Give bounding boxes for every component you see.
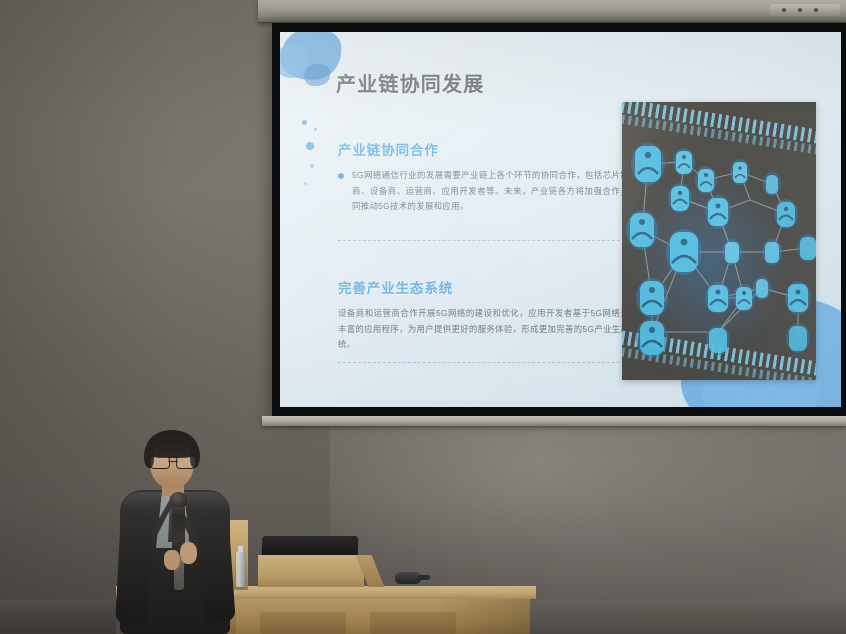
microphone-on-table	[395, 572, 421, 584]
section-1-body-text: 5G网络通信行业的发展需要产业链上各个环节的协同合作，包括芯片制造商、设备商、运…	[352, 170, 638, 211]
decor-dot-icon	[314, 128, 317, 131]
laptop-screen	[262, 536, 359, 556]
section-divider	[338, 240, 630, 241]
slide-title: 产业链协同发展	[336, 68, 484, 97]
slide-section-2: 完善产业生态系统 设备商和运营商合作开展5G网络的建设和优化，应用开发者基于5G…	[338, 277, 638, 353]
floor-left	[0, 600, 116, 634]
decor-dot-icon	[306, 142, 314, 150]
roller-screw-icon	[798, 8, 802, 12]
roller-screw-icon	[814, 8, 818, 12]
roller-endcap	[770, 4, 840, 16]
network-nodes-svg	[622, 102, 816, 380]
presenter-hand	[180, 542, 197, 564]
slide-section-1: 产业链协同合作 5G网络通信行业的发展需要产业链上各个环节的协同合作，包括芯片制…	[338, 139, 638, 215]
presenter-hand	[164, 550, 180, 570]
section-2-heading: 完善产业生态系统	[338, 277, 638, 297]
section-2-body-text: 设备商和运营商合作开展5G网络的建设和优化，应用开发者基于5G网络开发丰富的应用…	[338, 308, 638, 349]
floor-right	[530, 600, 846, 634]
table-panel	[370, 612, 456, 634]
presenter-left-arm	[115, 513, 153, 625]
section-1-heading: 产业链协同合作	[338, 139, 638, 159]
screen-bottom-rail	[262, 416, 846, 426]
glasses-icon	[150, 456, 196, 467]
slide-canvas: 产业链协同发展 产业链协同合作 5G网络通信行业的发展需要产业链上各个环节的协同…	[280, 32, 841, 407]
projection-screen-surface: 产业链协同发展 产业链协同合作 5G网络通信行业的发展需要产业链上各个环节的协同…	[280, 32, 841, 407]
presenter	[108, 430, 253, 634]
decor-dot-icon	[310, 164, 314, 168]
bullet-icon	[338, 173, 344, 179]
projection-screen-frame: 产业链协同发展 产业链协同合作 5G网络通信行业的发展需要产业链上各个环节的协同…	[272, 23, 846, 416]
section-2-body: 设备商和运营商合作开展5G网络的建设和优化，应用开发者基于5G网络开发丰富的应用…	[338, 306, 638, 353]
section-divider	[338, 362, 630, 363]
slide-network-diagram-image	[622, 102, 816, 380]
roller-screw-icon	[782, 8, 786, 12]
presentation-photo-scene: 产业链协同发展 产业链协同合作 5G网络通信行业的发展需要产业链上各个环节的协同…	[0, 0, 846, 634]
decor-dot-icon	[302, 120, 307, 125]
table-panel	[260, 612, 346, 634]
decor-dot-icon	[304, 182, 307, 185]
projector-screen-roller	[258, 0, 846, 23]
laptop-base	[258, 555, 364, 587]
section-1-body: 5G网络通信行业的发展需要产业链上各个环节的协同合作，包括芯片制造商、设备商、运…	[338, 168, 638, 215]
